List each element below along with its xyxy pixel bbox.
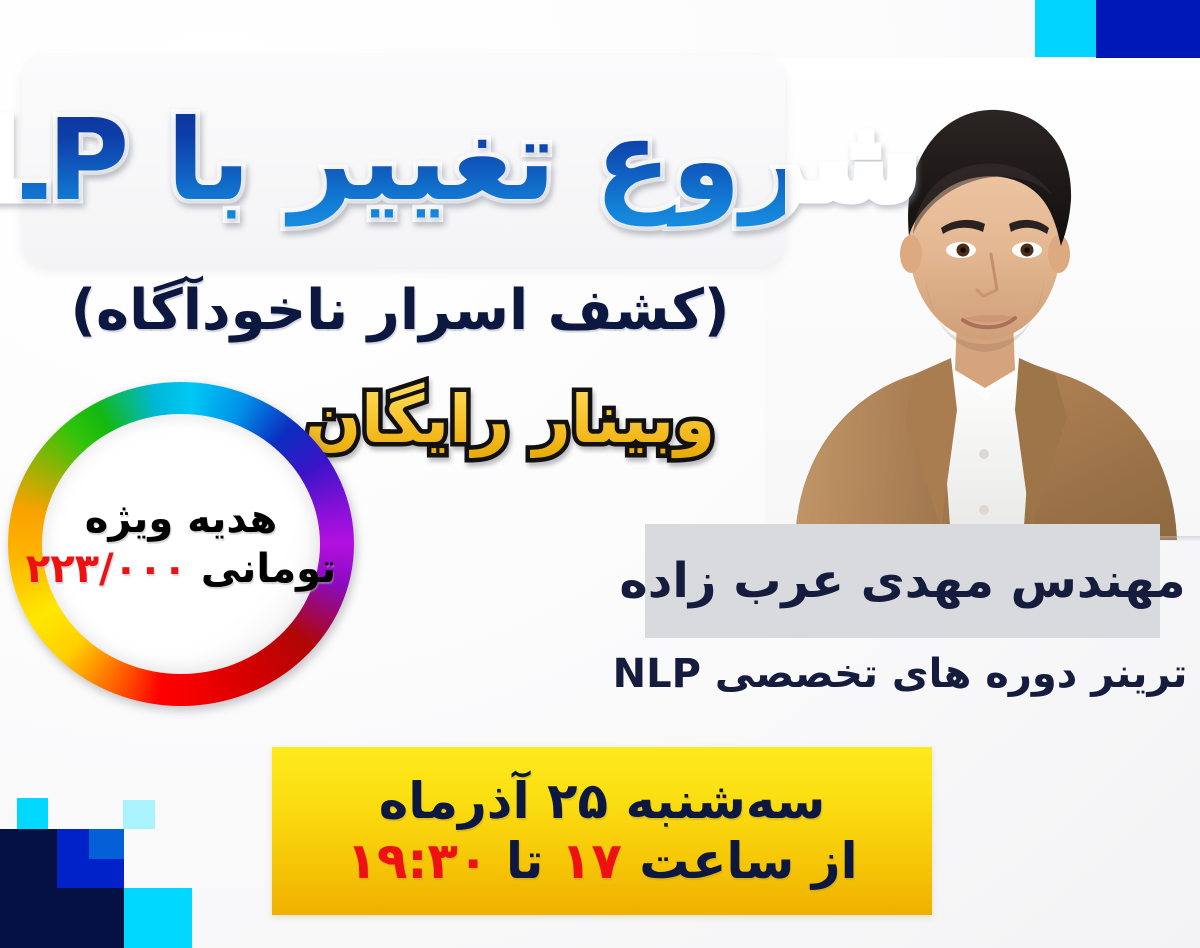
free-webinar-fill: وبینار رایگان bbox=[300, 372, 720, 468]
schedule-date: سه‌شنبه ۲۵ آذرماه bbox=[379, 772, 826, 830]
badge-gift-label: هدیه ویژه bbox=[85, 496, 277, 542]
badge-content: هدیه ویژه تومانی ۲۲۳/۰۰۰ bbox=[42, 414, 320, 674]
badge-price-line: تومانی ۲۲۳/۰۰۰ bbox=[26, 546, 336, 592]
deco-square-cyan-bottom-2 bbox=[124, 888, 192, 948]
poster-canvas: شروع تغییر با NLP شروع تغییر با NLP (کشف… bbox=[0, 0, 1200, 948]
schedule-time-joiner: تا bbox=[506, 832, 544, 890]
deco-square-darkblue-top bbox=[1096, 0, 1200, 58]
gift-badge: هدیه ویژه تومانی ۲۲۳/۰۰۰ bbox=[8, 382, 354, 706]
speaker-name: مهندس مهدی عرب زاده bbox=[645, 524, 1160, 638]
schedule-time-start: ۱۷ bbox=[561, 832, 622, 890]
badge-currency-unit: تومانی bbox=[201, 546, 336, 592]
schedule-time-end: ۱۹:۳۰ bbox=[346, 832, 488, 890]
deco-square-medblue-bottom bbox=[89, 829, 124, 859]
schedule-banner: سه‌شنبه ۲۵ آذرماه از ساعت ۱۷ تا ۱۹:۳۰ bbox=[272, 747, 932, 915]
free-webinar-label: وبینار رایگان وبینار رایگان bbox=[300, 372, 720, 468]
deco-square-lightcyan-bottom bbox=[123, 800, 155, 829]
deco-square-navy-bottom-2 bbox=[0, 888, 124, 948]
deco-square-cyan-top bbox=[1035, 0, 1096, 57]
title-card: شروع تغییر با NLP شروع تغییر با NLP bbox=[22, 55, 785, 267]
speaker-role: ترینر دوره های تخصصی NLP bbox=[620, 648, 1180, 700]
deco-square-cyan-bottom bbox=[17, 798, 48, 829]
badge-amount: ۲۲۳/۰۰۰ bbox=[26, 546, 187, 592]
subtitle: (کشف اسرار ناخودآگاه) bbox=[30, 280, 770, 342]
schedule-content: سه‌شنبه ۲۵ آذرماه از ساعت ۱۷ تا ۱۹:۳۰ bbox=[272, 747, 932, 915]
schedule-time: از ساعت ۱۷ تا ۱۹:۳۰ bbox=[346, 832, 857, 890]
schedule-time-prefix: از ساعت bbox=[639, 832, 857, 890]
main-title: شروع تغییر با NLP bbox=[22, 55, 785, 267]
